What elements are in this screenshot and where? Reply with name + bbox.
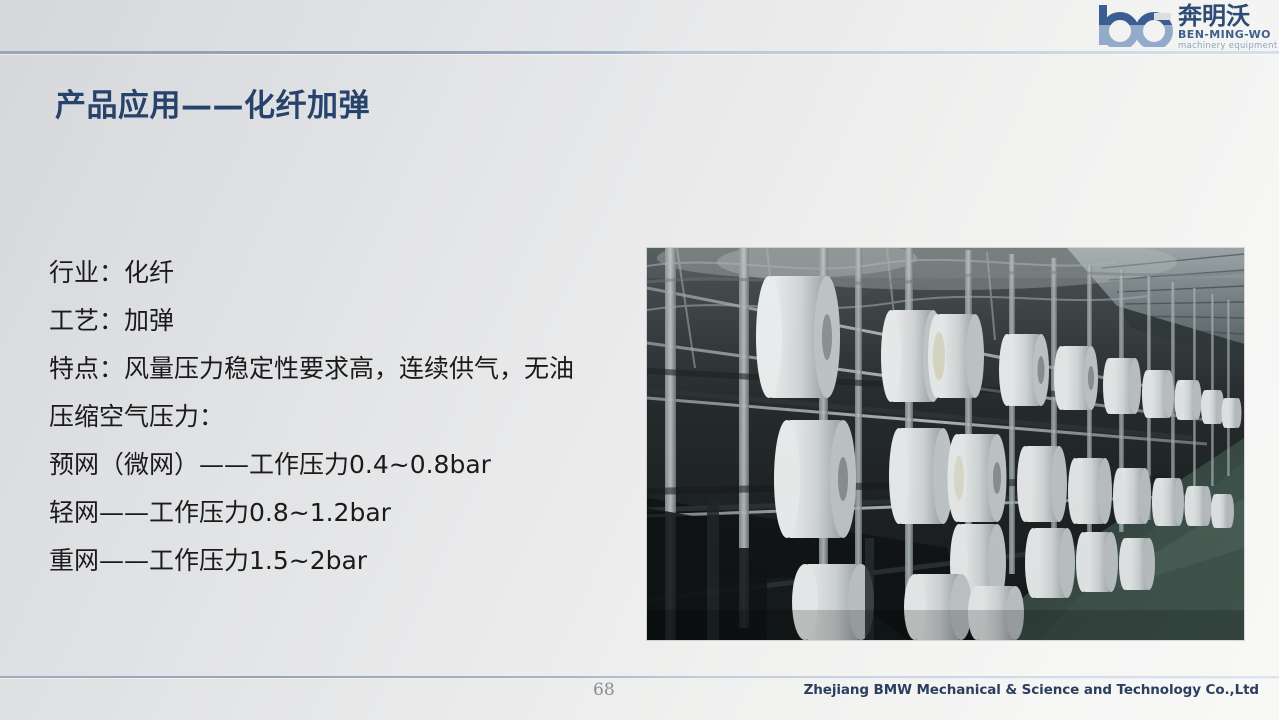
- body-line-features: 特点：风量压力稳定性要求高，连续供气，无油: [49, 345, 609, 393]
- factory-photo: [647, 248, 1244, 640]
- body-line-industry: 行业：化纤: [49, 249, 609, 297]
- slide-header: 奔明沃 BEN-MING-WO machinery equipment: [0, 0, 1279, 53]
- logo-tagline: machinery equipment: [1178, 41, 1277, 52]
- body-content: 行业：化纤 工艺：加弹 特点：风量压力稳定性要求高，连续供气，无油 压缩空气压力…: [49, 249, 609, 585]
- body-line-pressure-heading: 压缩空气压力：: [49, 393, 609, 441]
- body-line-heavy-net: 重网——工作压力1.5~2bar: [49, 537, 609, 585]
- company-logo[interactable]: 奔明沃 BEN-MING-WO machinery equipment: [1097, 2, 1271, 52]
- logo-chinese-name: 奔明沃: [1178, 3, 1277, 29]
- page-title: 产品应用——化纤加弹: [55, 80, 370, 125]
- body-line-process: 工艺：加弹: [49, 297, 609, 345]
- page-number: 68: [593, 680, 615, 700]
- logo-wordmark: 奔明沃 BEN-MING-WO machinery equipment: [1178, 3, 1277, 52]
- footer-company-name: Zhejiang BMW Mechanical & Science and Te…: [804, 682, 1259, 698]
- footer-divider-highlight: [0, 678, 1279, 679]
- body-line-pre-net: 预网（微网）——工作压力0.4~0.8bar: [49, 441, 609, 489]
- factory-photo-illustration: [647, 248, 1244, 640]
- logo-english-name: BEN-MING-WO: [1178, 29, 1277, 41]
- body-line-light-net: 轻网——工作压力0.8~1.2bar: [49, 489, 609, 537]
- header-divider-highlight: [0, 54, 1279, 55]
- presentation-slide: 奔明沃 BEN-MING-WO machinery equipment 产品应用…: [0, 0, 1279, 720]
- bo-monogram-icon: [1097, 3, 1175, 51]
